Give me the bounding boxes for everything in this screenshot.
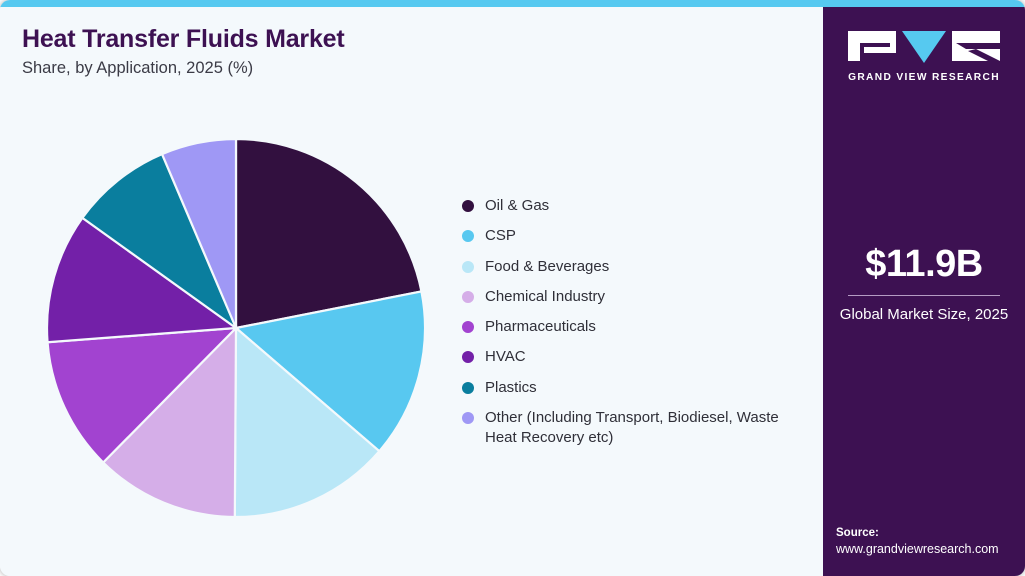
legend-swatch-icon: [462, 200, 474, 212]
pie-chart-svg: [46, 138, 426, 518]
legend-swatch-icon: [462, 321, 474, 333]
legend-item-label: Pharmaceuticals: [485, 317, 596, 337]
chart-legend: Oil & GasCSPFood & BeveragesChemical Ind…: [462, 196, 812, 458]
legend-item: CSP: [462, 226, 812, 246]
source-url[interactable]: www.grandviewresearch.com: [836, 541, 1022, 558]
kpi-divider: [848, 295, 1000, 296]
legend-item-label: Oil & Gas: [485, 196, 549, 216]
logo-wordmark: GRAND VIEW RESEARCH: [823, 72, 1025, 83]
legend-item-label: Chemical Industry: [485, 287, 605, 307]
kpi-caption: Global Market Size, 2025: [823, 305, 1025, 325]
legend-item-label: HVAC: [485, 347, 526, 367]
source-block: Source: www.grandviewresearch.com: [836, 526, 1022, 558]
page-subtitle: Share, by Application, 2025 (%): [22, 59, 722, 79]
legend-item: Other (Including Transport, Biodiesel, W…: [462, 408, 812, 448]
legend-item-label: CSP: [485, 226, 516, 246]
legend-item: Pharmaceuticals: [462, 317, 812, 337]
legend-item: HVAC: [462, 347, 812, 367]
pie-slice-group: [47, 139, 425, 517]
kpi-value: $11.9B: [823, 245, 1025, 283]
legend-swatch-icon: [462, 382, 474, 394]
pie-chart: [46, 138, 426, 518]
legend-item: Plastics: [462, 378, 812, 398]
legend-item: Food & Beverages: [462, 257, 812, 277]
legend-item-label: Other (Including Transport, Biodiesel, W…: [485, 408, 795, 448]
brand-logo: GRAND VIEW RESEARCH: [823, 29, 1025, 83]
legend-swatch-icon: [462, 351, 474, 363]
page-title: Heat Transfer Fluids Market: [22, 25, 722, 54]
legend-swatch-icon: [462, 291, 474, 303]
legend-swatch-icon: [462, 230, 474, 242]
infographic-root: Heat Transfer Fluids Market Share, by Ap…: [0, 0, 1025, 576]
legend-swatch-icon: [462, 261, 474, 273]
legend-swatch-icon: [462, 412, 474, 424]
source-label: Source:: [836, 526, 1022, 542]
kpi-block: $11.9B Global Market Size, 2025: [823, 245, 1025, 325]
legend-item: Oil & Gas: [462, 196, 812, 216]
gvr-logo-icon: [848, 29, 1000, 65]
legend-item-label: Food & Beverages: [485, 257, 609, 277]
top-accent-bar: [0, 0, 1025, 7]
title-block: Heat Transfer Fluids Market Share, by Ap…: [22, 25, 722, 79]
chart-panel: Heat Transfer Fluids Market Share, by Ap…: [0, 7, 823, 576]
side-panel: GRAND VIEW RESEARCH $11.9B Global Market…: [823, 7, 1025, 576]
legend-item: Chemical Industry: [462, 287, 812, 307]
legend-item-label: Plastics: [485, 378, 537, 398]
